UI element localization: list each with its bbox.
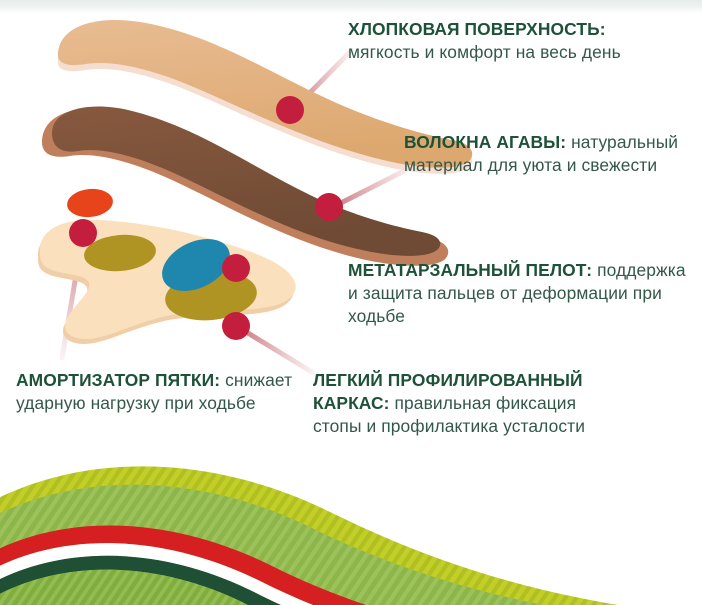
connector-line-frame bbox=[238, 327, 312, 372]
marker-dot-metatarsal[interactable] bbox=[222, 254, 250, 282]
heel-cushion-insert bbox=[66, 187, 115, 220]
callout-agave-fibers: ВОЛОКНА АГАВЫ: натуральный материал для … bbox=[404, 131, 694, 177]
callout-cotton-surface: ХЛОПКОВАЯ ПОВЕРХНОСТЬ: мягкость и комфор… bbox=[348, 18, 678, 64]
callout-agave-heading: ВОЛОКНА АГАВЫ: bbox=[404, 132, 566, 152]
callout-metatarsal-pad: МЕТАТАРЗАЛЬНЫЙ ПЕЛОТ: поддержка и защита… bbox=[348, 259, 698, 328]
callout-heel-absorber: АМОРТИЗАТОР ПЯТКИ: снижает ударную нагру… bbox=[16, 369, 306, 415]
marker-dot-frame[interactable] bbox=[222, 312, 250, 340]
connector-line-agave bbox=[331, 168, 410, 208]
callout-light-frame: ЛЕГКИЙ ПРОФИЛИРОВАННЫЙ КАРКАС: правильна… bbox=[313, 369, 613, 438]
callout-cotton-body: мягкость и комфорт на весь день bbox=[348, 42, 621, 62]
callout-metatarsal-heading: МЕТАТАРЗАЛЬНЫЙ ПЕЛОТ: bbox=[348, 260, 592, 280]
marker-dot-heel[interactable] bbox=[69, 219, 97, 247]
callout-heel-heading: АМОРТИЗАТОР ПЯТКИ: bbox=[16, 370, 220, 390]
marker-dot-agave[interactable] bbox=[315, 193, 343, 221]
marker-dot-cotton[interactable] bbox=[276, 96, 304, 124]
infographic-root: ХЛОПКОВАЯ ПОВЕРХНОСТЬ: мягкость и комфор… bbox=[0, 0, 702, 605]
callout-cotton-heading: ХЛОПКОВАЯ ПОВЕРХНОСТЬ: bbox=[348, 19, 606, 39]
